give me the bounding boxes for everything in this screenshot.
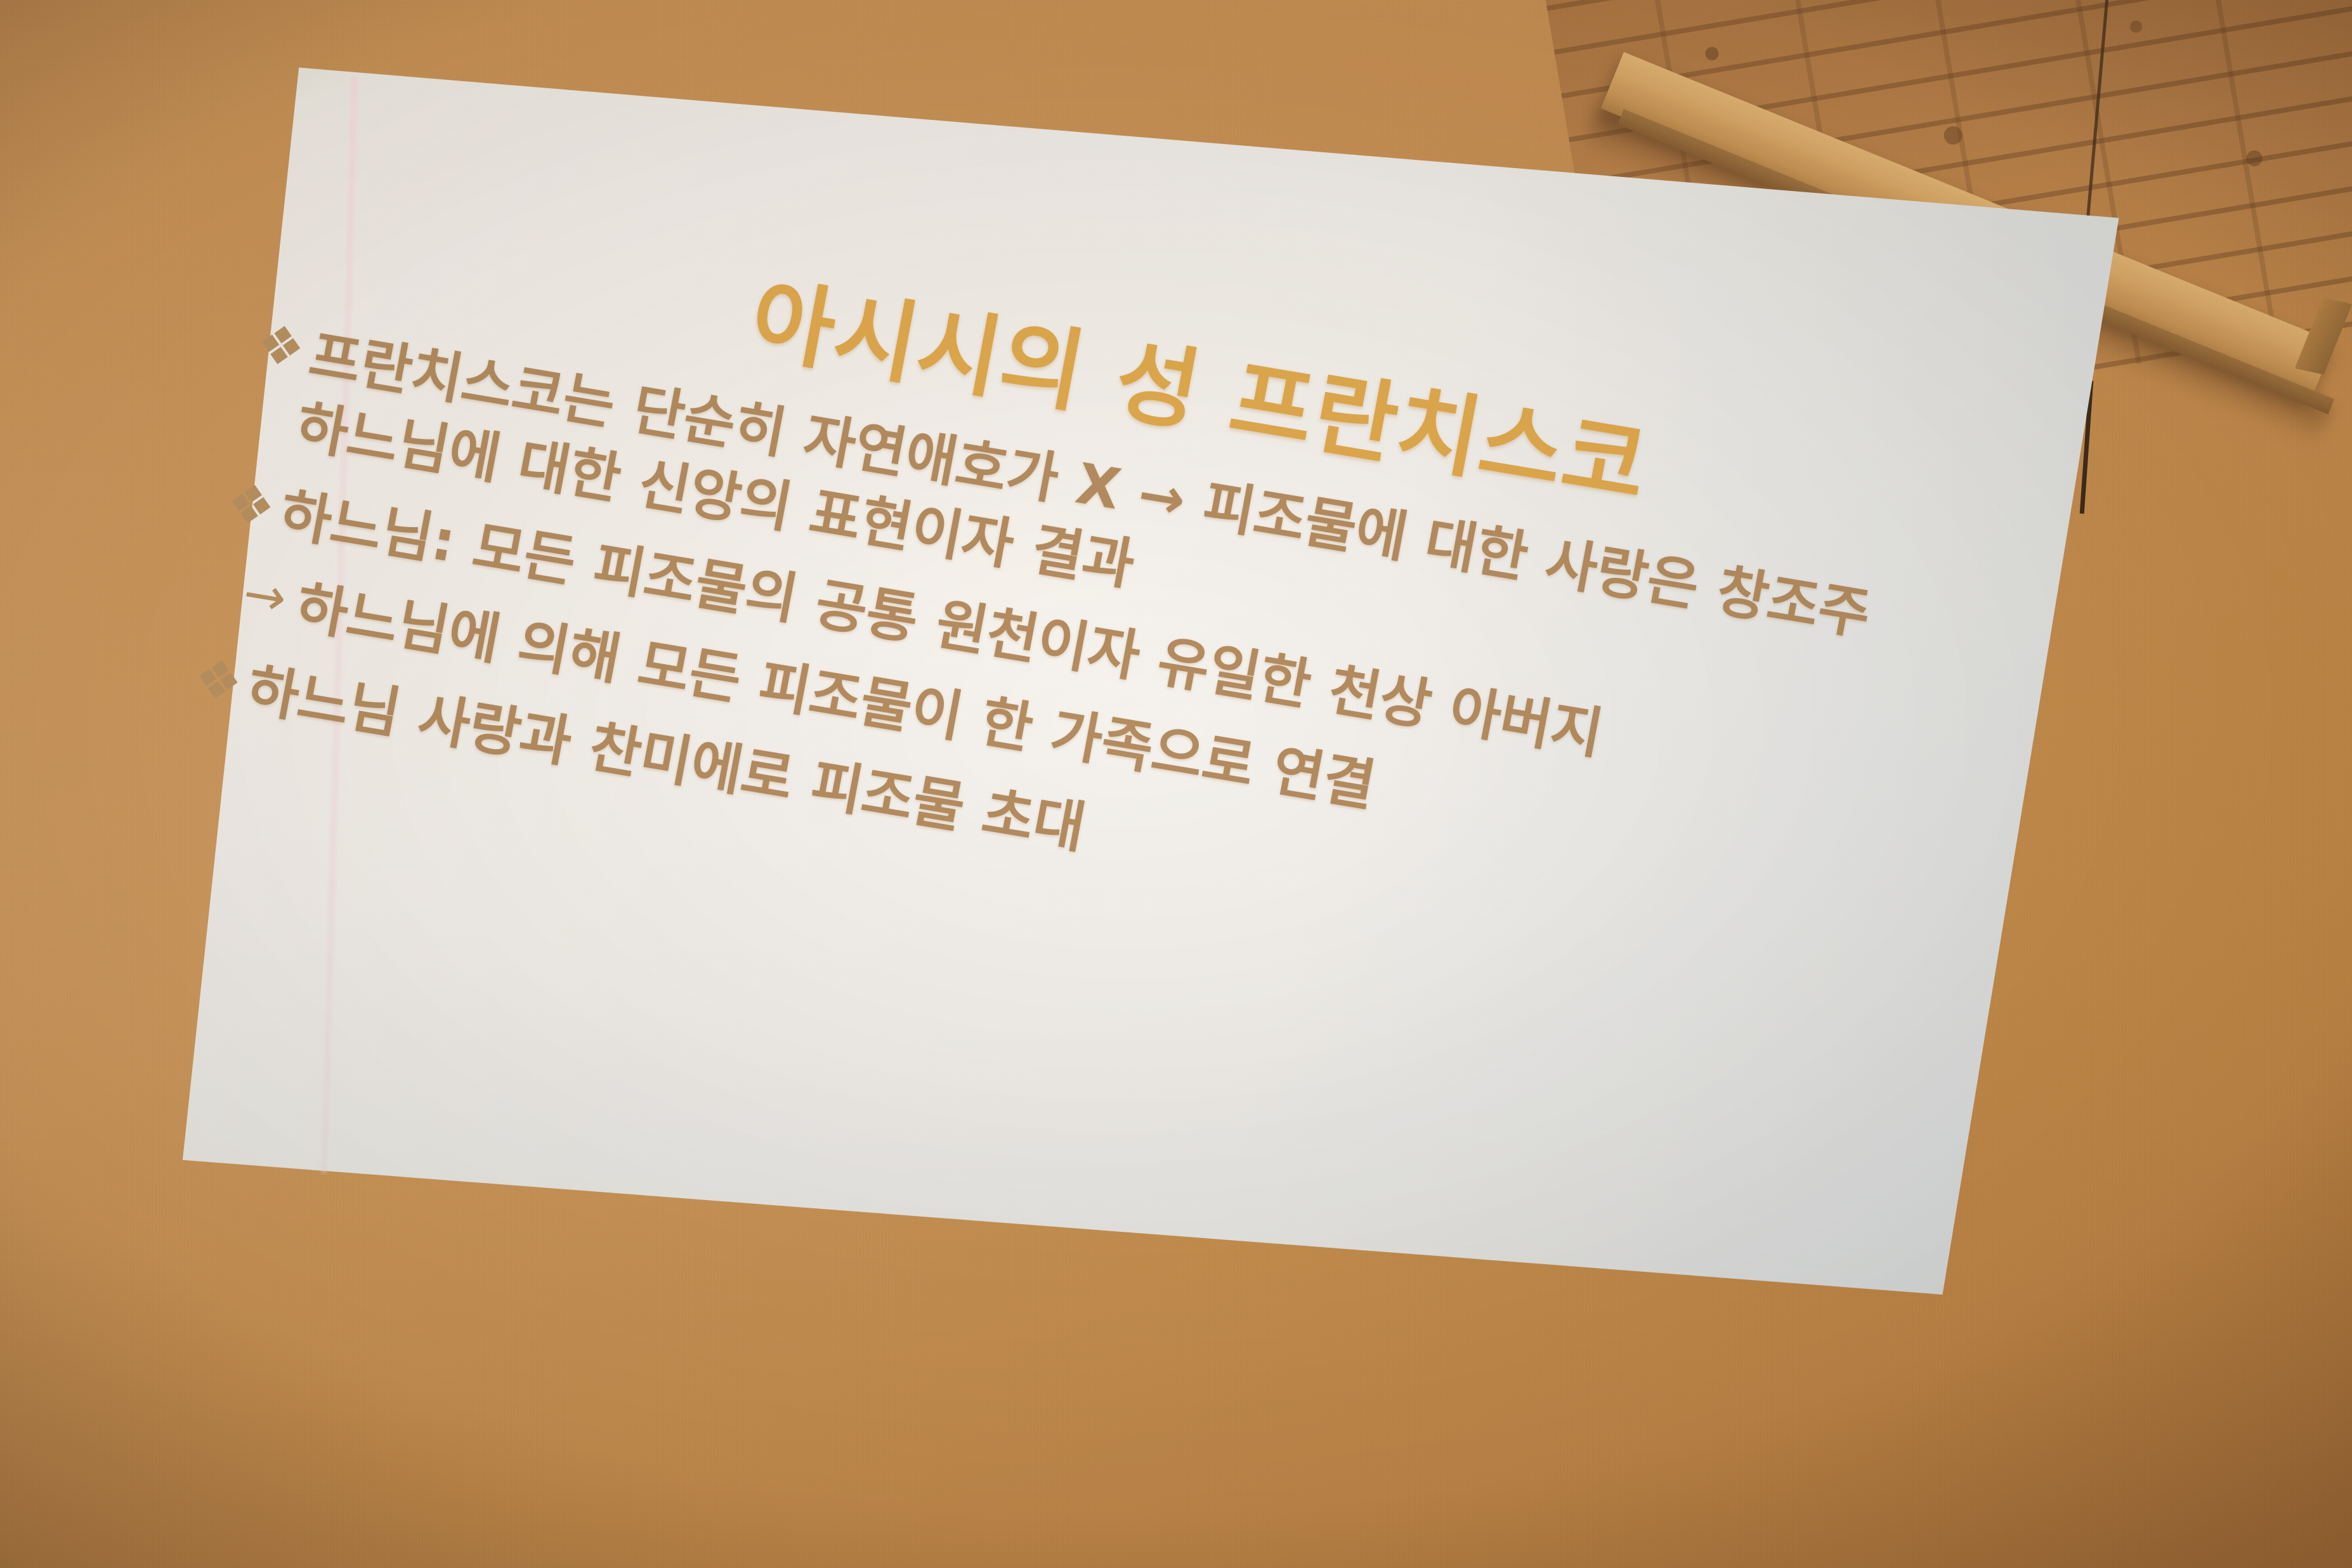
projection-area: 아시시의 성 프란치스코 ❖ 프란치스코는 단순히 자연애호가 X → 피조물에… xyxy=(0,0,2352,1568)
screenshot-root: 아시시의 성 프란치스코 ❖ 프란치스코는 단순히 자연애호가 X → 피조물에… xyxy=(0,0,2352,1568)
arrow-right-icon: → xyxy=(206,557,303,632)
